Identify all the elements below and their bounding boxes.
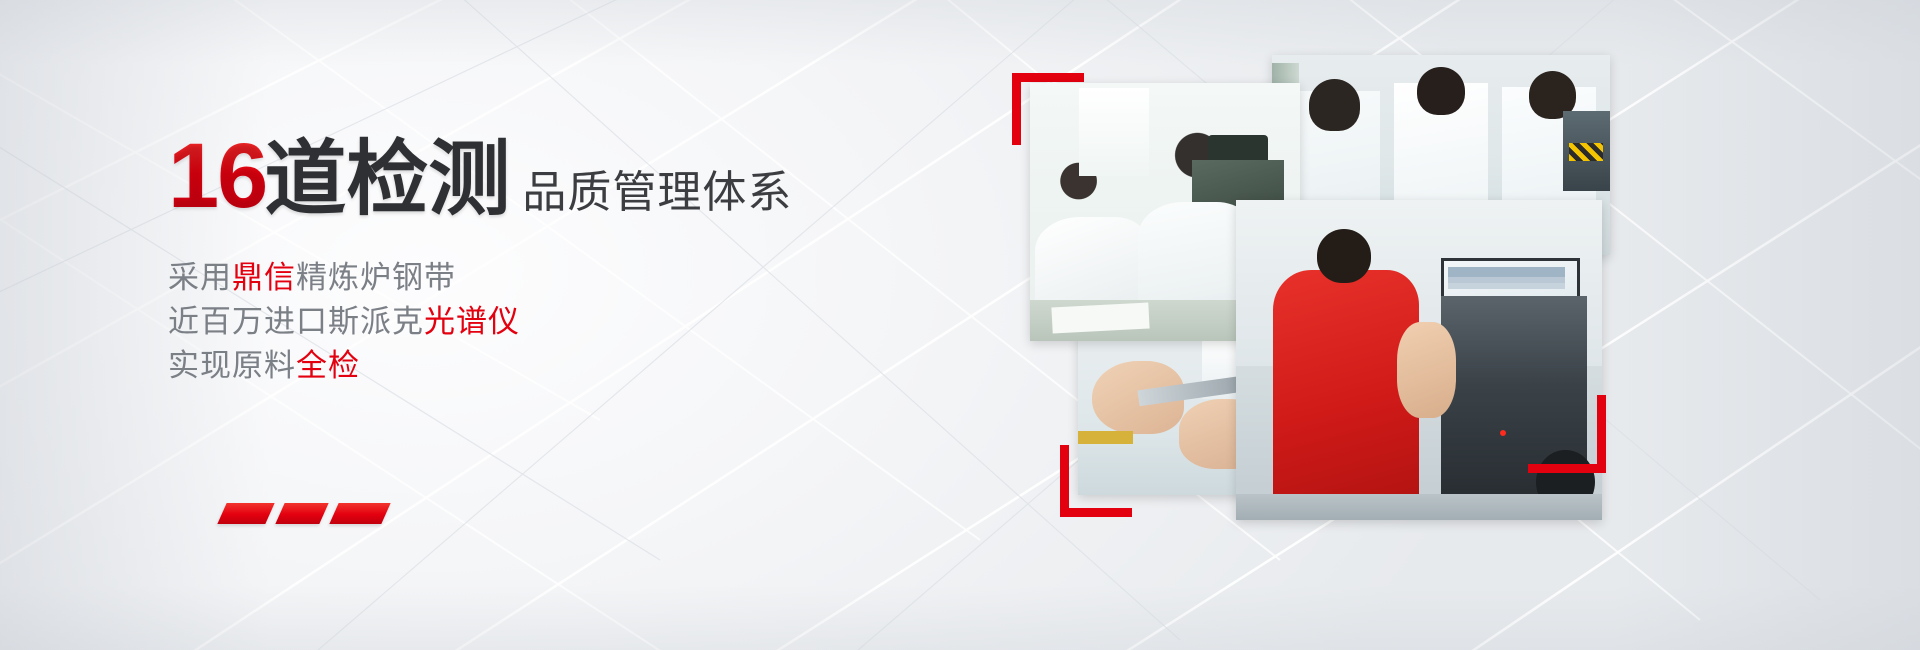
bottom-left-bracket: [1060, 445, 1132, 517]
headline-main-text: 道检测: [264, 134, 510, 225]
bracket-vertical-bar: [1597, 395, 1606, 473]
operator-head: [1317, 229, 1372, 283]
bracket-vertical-bar: [1060, 445, 1069, 517]
floor: [1236, 494, 1602, 520]
description-line-1: 采用鼎信精炼炉钢带: [168, 256, 808, 300]
desc1-after: 精炼炉钢带: [296, 260, 456, 295]
bracket-horizontal-bar: [1060, 508, 1132, 517]
warning-stripe: [1569, 143, 1603, 161]
dash-3: [329, 503, 390, 524]
screen-text-lines: [1448, 267, 1565, 277]
promotional-banner: 16道检测品质管理体系 采用鼎信精炼炉钢带 近百万进口斯派克光谱仪 实现原料全检: [0, 0, 1920, 650]
bracket-horizontal-bar: [1528, 464, 1606, 473]
dash-2: [275, 503, 328, 524]
desc3-highlight: 全检: [296, 348, 360, 383]
banner-text-block: 16道检测品质管理体系 采用鼎信精炼炉钢带 近百万进口斯派克光谱仪 实现原料全检: [168, 130, 808, 388]
bracket-vertical-bar: [1012, 73, 1021, 145]
bracket-horizontal-bar: [1012, 73, 1084, 82]
desc2-highlight: 光谱仪: [424, 304, 520, 339]
technician-a-head: [1309, 79, 1360, 131]
operator-arm: [1397, 322, 1456, 418]
technician-b-head: [1417, 67, 1464, 115]
desc2-before: 近百万进口斯派克: [168, 304, 424, 339]
headline: 16道检测品质管理体系: [168, 130, 808, 222]
photo-collage: [1000, 55, 1640, 595]
window-light: [1079, 88, 1149, 176]
headline-sub-text: 品质管理体系: [522, 168, 792, 217]
dash-1: [217, 503, 274, 524]
description-block: 采用鼎信精炼炉钢带 近百万进口斯派克光谱仪 实现原料全检: [168, 256, 808, 388]
description-line-3: 实现原料全检: [168, 344, 808, 388]
operator-red-shirt: [1273, 270, 1419, 520]
description-line-2: 近百万进口斯派克光谱仪: [168, 300, 808, 344]
yellow-tape: [1078, 431, 1133, 444]
desc1-highlight: 鼎信: [232, 260, 296, 295]
desc3-before: 实现原料: [168, 348, 296, 383]
bottom-right-bracket: [1528, 395, 1606, 473]
status-led-icon: [1500, 430, 1506, 436]
headline-number: 16: [168, 125, 266, 227]
red-dash-decoration: [222, 503, 386, 524]
desc1-before: 采用: [168, 260, 232, 295]
record-sheet: [1051, 302, 1149, 333]
